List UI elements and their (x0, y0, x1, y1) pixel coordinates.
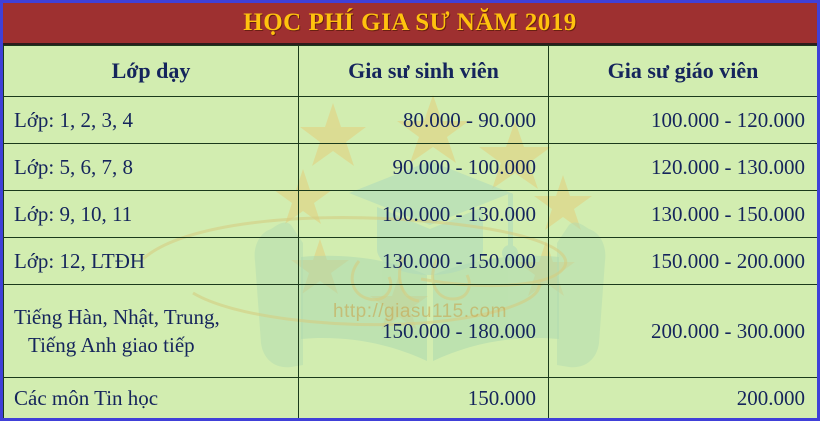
table-body: Lớp: 1, 2, 3, 4 80.000 - 90.000 100.000 … (4, 97, 818, 419)
cell-student-tutor-price: 150.000 (299, 378, 549, 419)
cell-category-line1: Tiếng Hàn, Nhật, Trung, (14, 305, 220, 329)
tuition-fee-card: HỌC PHÍ GIA SƯ NĂM 2019 (0, 0, 820, 421)
cell-student-tutor-price: 130.000 - 150.000 (299, 238, 549, 285)
cell-category: Lớp: 1, 2, 3, 4 (4, 97, 299, 144)
cell-category: Lớp: 12, LTĐH (4, 238, 299, 285)
cell-teacher-tutor-price: 100.000 - 120.000 (549, 97, 818, 144)
tuition-fee-table: Lớp dạy Gia sư sinh viên Gia sư giáo viê… (3, 45, 818, 419)
cell-student-tutor-price: 90.000 - 100.000 (299, 144, 549, 191)
table-row: Lớp: 12, LTĐH 130.000 - 150.000 150.000 … (4, 238, 818, 285)
cell-teacher-tutor-price: 150.000 - 200.000 (549, 238, 818, 285)
cell-category: Tiếng Hàn, Nhật, Trung,Tiếng Anh giao ti… (4, 285, 299, 378)
cell-student-tutor-price: 80.000 - 90.000 (299, 97, 549, 144)
table-row: Lớp: 9, 10, 11 100.000 - 130.000 130.000… (4, 191, 818, 238)
cell-teacher-tutor-price: 120.000 - 130.000 (549, 144, 818, 191)
column-header-class: Lớp dạy (4, 46, 299, 97)
cell-teacher-tutor-price: 200.000 - 300.000 (549, 285, 818, 378)
table-row: Các môn Tin học 150.000 200.000 (4, 378, 818, 419)
cell-category-line2: Tiếng Anh giao tiếp (14, 331, 288, 359)
table-row: Tiếng Hàn, Nhật, Trung,Tiếng Anh giao ti… (4, 285, 818, 378)
cell-category: Lớp: 9, 10, 11 (4, 191, 299, 238)
cell-student-tutor-price: 100.000 - 130.000 (299, 191, 549, 238)
card-title-bar: HỌC PHÍ GIA SƯ NĂM 2019 (3, 3, 817, 45)
table-header: Lớp dạy Gia sư sinh viên Gia sư giáo viê… (4, 46, 818, 97)
header-row: Lớp dạy Gia sư sinh viên Gia sư giáo viê… (4, 46, 818, 97)
cell-category: Lớp: 5, 6, 7, 8 (4, 144, 299, 191)
cell-student-tutor-price: 150.000 - 180.000 (299, 285, 549, 378)
column-header-student-tutor: Gia sư sinh viên (299, 46, 549, 97)
cell-teacher-tutor-price: 200.000 (549, 378, 818, 419)
cell-teacher-tutor-price: 130.000 - 150.000 (549, 191, 818, 238)
table-row: Lớp: 5, 6, 7, 8 90.000 - 100.000 120.000… (4, 144, 818, 191)
page-title: HỌC PHÍ GIA SƯ NĂM 2019 (243, 9, 577, 37)
column-header-teacher-tutor: Gia sư giáo viên (549, 46, 818, 97)
cell-category: Các môn Tin học (4, 378, 299, 419)
table-row: Lớp: 1, 2, 3, 4 80.000 - 90.000 100.000 … (4, 97, 818, 144)
